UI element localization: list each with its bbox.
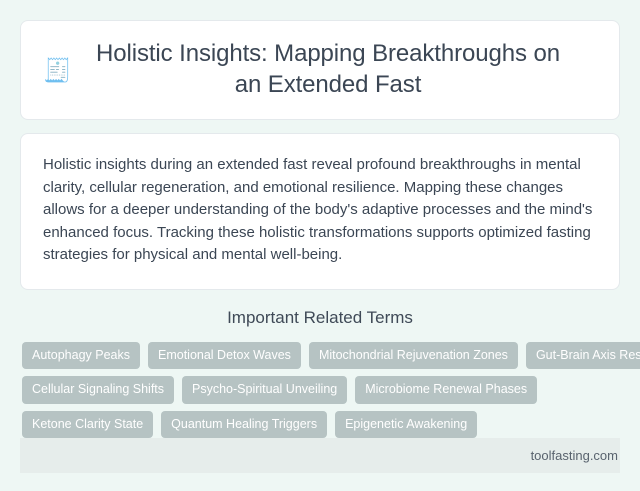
term-tag[interactable]: Cellular Signaling Shifts [22, 376, 174, 404]
term-tag[interactable]: Gut-Brain Axis Reset [526, 342, 640, 370]
term-tag[interactable]: Psycho-Spiritual Unveiling [182, 376, 347, 404]
footer-bar: toolfasting.com [20, 438, 620, 473]
receipt-icon: 🧾 [43, 59, 69, 82]
page-title: Holistic Insights: Mapping Breakthroughs… [85, 39, 597, 100]
description-card: Holistic insights during an extended fas… [20, 133, 620, 290]
term-tag[interactable]: Quantum Healing Triggers [161, 411, 327, 439]
term-tag[interactable]: Ketone Clarity State [22, 411, 153, 439]
description-text: Holistic insights during an extended fas… [43, 154, 597, 267]
tag-rows: Autophagy Peaks Emotional Detox Waves Mi… [20, 342, 620, 439]
tag-row: Ketone Clarity State Quantum Healing Tri… [22, 411, 618, 439]
footer-site-name: toolfasting.com [531, 448, 618, 463]
tag-row: Cellular Signaling Shifts Psycho-Spiritu… [22, 376, 618, 404]
related-terms-section: Important Related Terms Autophagy Peaks … [20, 308, 620, 439]
header-inner: 🧾 Holistic Insights: Mapping Breakthroug… [43, 39, 597, 100]
header-card: 🧾 Holistic Insights: Mapping Breakthroug… [20, 20, 620, 120]
term-tag[interactable]: Microbiome Renewal Phases [355, 376, 537, 404]
related-terms-heading: Important Related Terms [20, 308, 620, 328]
page-root: 🧾 Holistic Insights: Mapping Breakthroug… [0, 0, 640, 491]
tag-row: Autophagy Peaks Emotional Detox Waves Mi… [22, 342, 618, 370]
footer-spacer [20, 473, 620, 483]
term-tag[interactable]: Mitochondrial Rejuvenation Zones [309, 342, 518, 370]
term-tag[interactable]: Emotional Detox Waves [148, 342, 301, 370]
term-tag[interactable]: Epigenetic Awakening [335, 411, 477, 439]
term-tag[interactable]: Autophagy Peaks [22, 342, 140, 370]
